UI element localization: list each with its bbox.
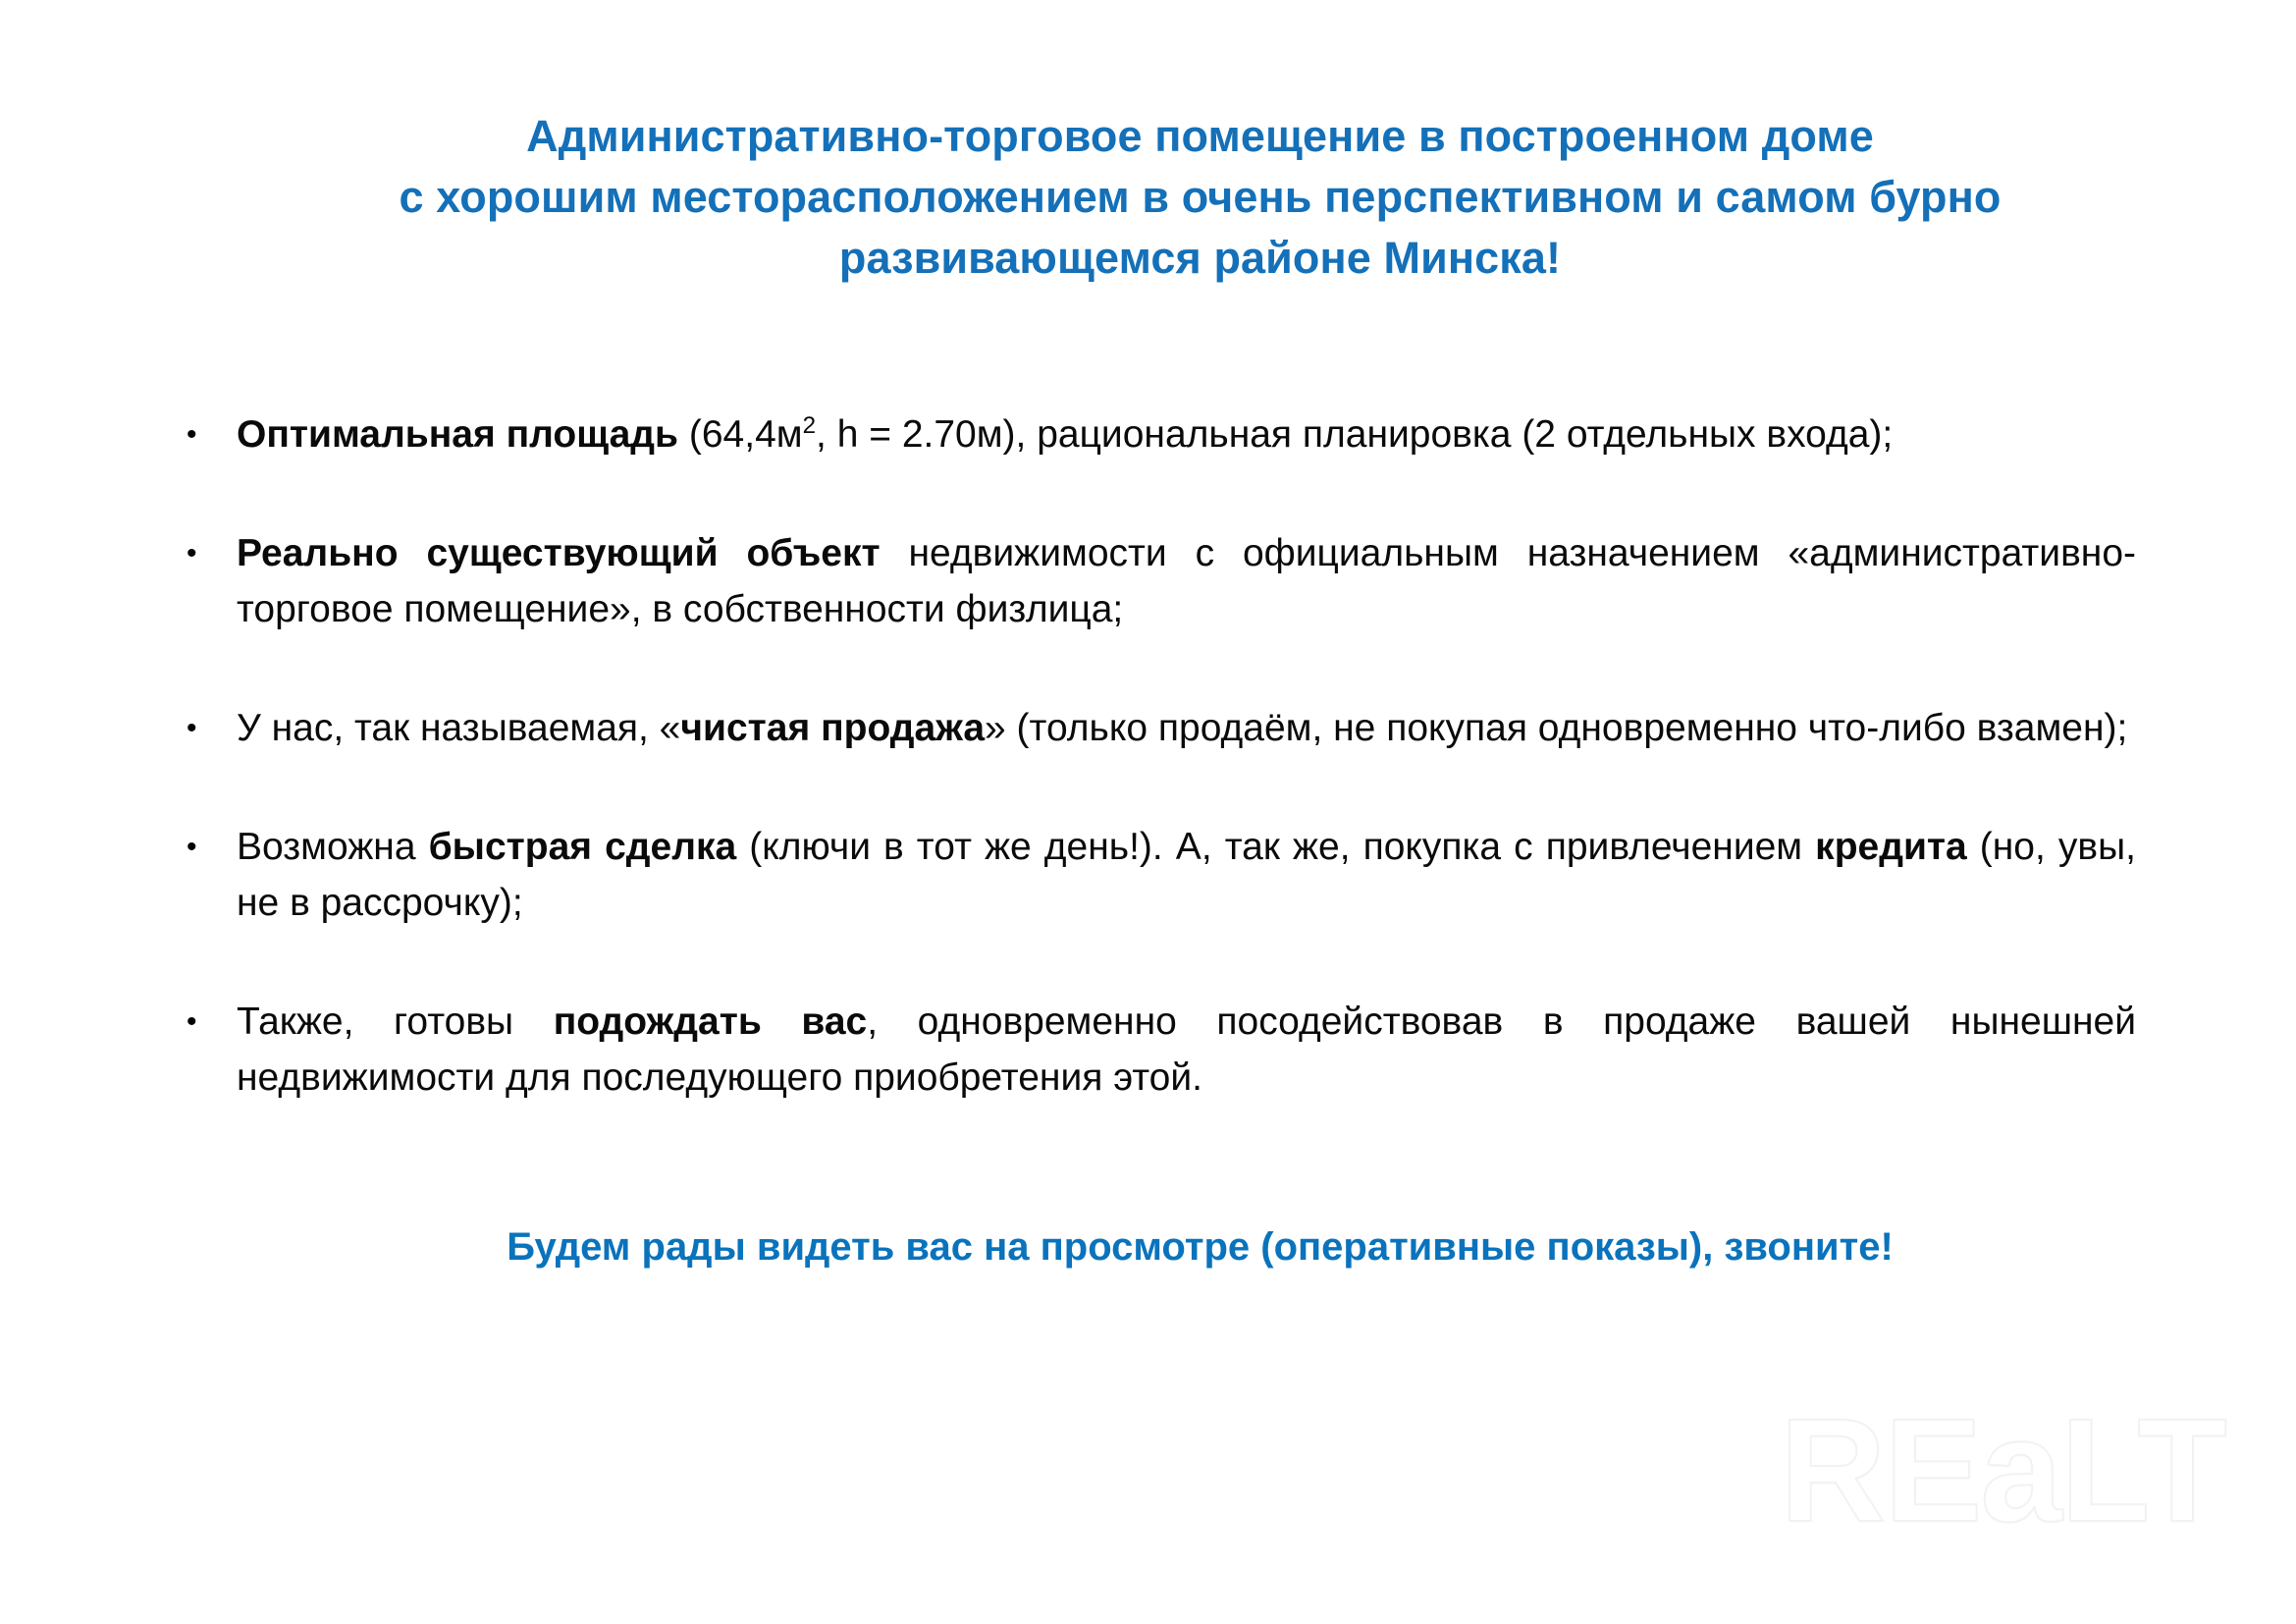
list-item: • У нас, так называемая, «чистая продажа… bbox=[183, 700, 2136, 756]
list-item: • Оптимальная площадь (64,4м2, h = 2.70м… bbox=[183, 406, 2136, 462]
list-item-text: Оптимальная площадь (64,4м2, h = 2.70м),… bbox=[237, 413, 1893, 456]
page-title: Административно-торговое помещение в пос… bbox=[236, 106, 2164, 289]
list-item-text: Возможна быстрая сделка (ключи в тот же … bbox=[237, 826, 2136, 924]
list-item: • Возможна быстрая сделка (ключи в тот ж… bbox=[183, 819, 2136, 931]
list-item-rest: , h = 2.70м), рациональная планировка (2… bbox=[816, 413, 1893, 456]
list-item-text: Реально существующий объект недвижимости… bbox=[237, 532, 2136, 630]
list-item-emphasis: Оптимальная площадь bbox=[237, 413, 678, 456]
list-item-lead: Также, готовы bbox=[237, 1001, 554, 1043]
bullet-marker-icon: • bbox=[187, 700, 206, 756]
list-item-emphasis: быстрая сделка bbox=[429, 826, 737, 868]
bullet-marker-icon: • bbox=[187, 406, 206, 462]
list-item: • Реально существующий объект недвижимос… bbox=[183, 525, 2136, 637]
list-item-emphasis: подождать вас bbox=[554, 1001, 868, 1043]
bullet-marker-icon: • bbox=[187, 819, 206, 875]
list-item-text: Также, готовы подождать вас, одновременн… bbox=[237, 1001, 2136, 1099]
watermark-part-3: LT bbox=[2060, 1387, 2225, 1552]
watermark-part-2: a bbox=[1980, 1387, 2059, 1552]
list-item-emphasis: Реально существующий объект bbox=[237, 532, 881, 574]
closing-callout: Будем рады видеть вас на просмотре (опер… bbox=[236, 1220, 2164, 1273]
list-item-rest: » (только продаём, не покупая одновремен… bbox=[985, 707, 2127, 749]
bullet-marker-icon: • bbox=[187, 525, 206, 581]
watermark-part-1: RE bbox=[1780, 1387, 1980, 1552]
slide-page: Административно-торговое помещение в пос… bbox=[0, 0, 2296, 1624]
page-title-line-1: Административно-торговое помещение в пос… bbox=[236, 106, 2164, 167]
list-item-emphasis: чистая продажа bbox=[680, 707, 985, 749]
realt-watermark: REaLT bbox=[1780, 1396, 2225, 1543]
list-item-mid: (ключи в тот же день!). А, так же, покуп… bbox=[736, 826, 1815, 868]
list-item-text: У нас, так называемая, «чистая продажа» … bbox=[237, 707, 2127, 749]
page-title-line-2: с хорошим месторасположением в очень пер… bbox=[236, 167, 2164, 228]
list-item-emphasis-2: кредита bbox=[1815, 826, 1967, 868]
superscript-two: 2 bbox=[803, 412, 816, 439]
feature-list: • Оптимальная площадь (64,4м2, h = 2.70м… bbox=[183, 406, 2136, 1106]
bullet-marker-icon: • bbox=[187, 994, 206, 1050]
list-item-lead: У нас, так называемая, « bbox=[237, 707, 680, 749]
page-title-line-3: развивающемся районе Минска! bbox=[236, 228, 2164, 289]
list-item-lead: Возможна bbox=[237, 826, 429, 868]
list-item: • Также, готовы подождать вас, одновреме… bbox=[183, 994, 2136, 1106]
list-item-paren: (64,4м bbox=[678, 413, 803, 456]
